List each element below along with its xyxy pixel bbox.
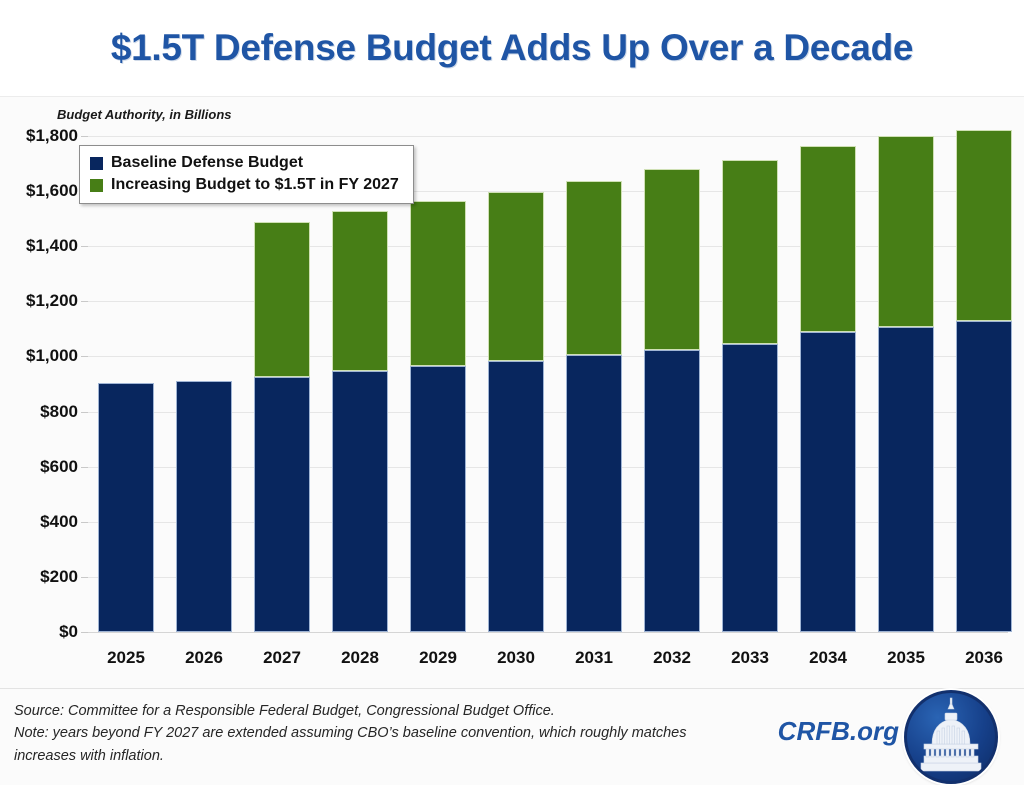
y-tick-mark xyxy=(81,301,88,302)
bar-column[interactable] xyxy=(956,136,1012,632)
bar-column[interactable] xyxy=(566,136,622,632)
bar-segment-increase[interactable] xyxy=(488,192,544,361)
bar-segment-increase[interactable] xyxy=(332,211,388,371)
y-axis-tick-label: $1,200 xyxy=(0,291,78,311)
legend-item[interactable]: Increasing Budget to $1.5T in FY 2027 xyxy=(90,174,399,196)
footnotes: Source: Committee for a Responsible Fede… xyxy=(14,700,744,767)
y-tick-mark xyxy=(81,467,88,468)
source-note: Source: Committee for a Responsible Fede… xyxy=(14,700,744,722)
bar-segment-baseline[interactable] xyxy=(410,366,466,632)
y-axis-tick-label: $1,000 xyxy=(0,346,78,366)
plot-area: $0$200$400$600$800$1,000$1,200$1,400$1,6… xyxy=(88,136,1008,632)
gridline xyxy=(88,632,1008,633)
bar-segment-baseline[interactable] xyxy=(566,355,622,632)
x-axis-tick-label: 2033 xyxy=(722,648,778,668)
bar-column[interactable] xyxy=(410,136,466,632)
bar-segment-increase[interactable] xyxy=(878,136,934,327)
bar-segment-baseline[interactable] xyxy=(98,383,154,632)
bar-segment-baseline[interactable] xyxy=(488,361,544,632)
x-axis-tick-label: 2036 xyxy=(956,648,1012,668)
brand-wordmark: CRFB.org xyxy=(778,716,899,747)
bar-segment-baseline[interactable] xyxy=(722,344,778,632)
bar-segment-baseline[interactable] xyxy=(254,377,310,632)
methodology-note: Note: years beyond FY 2027 are extended … xyxy=(14,722,744,767)
bar-segment-increase[interactable] xyxy=(566,181,622,355)
y-tick-mark xyxy=(81,246,88,247)
legend-swatch-increase xyxy=(90,179,103,192)
legend-label-increase: Increasing Budget to $1.5T in FY 2027 xyxy=(111,176,399,194)
legend-swatch-baseline xyxy=(90,157,103,170)
bar-column[interactable] xyxy=(722,136,778,632)
x-axis-tick-label: 2030 xyxy=(488,648,544,668)
bar-segment-baseline[interactable] xyxy=(332,371,388,632)
bar-segment-baseline[interactable] xyxy=(176,381,232,632)
bar-segment-increase[interactable] xyxy=(722,160,778,344)
y-tick-mark xyxy=(81,522,88,523)
x-axis-tick-label: 2031 xyxy=(566,648,622,668)
y-tick-mark xyxy=(81,632,88,633)
bar-column[interactable] xyxy=(176,136,232,632)
bar-segment-increase[interactable] xyxy=(800,146,856,331)
title-band: $1.5T Defense Budget Adds Up Over a Deca… xyxy=(0,0,1024,97)
y-tick-mark xyxy=(81,356,88,357)
y-axis-tick-label: $600 xyxy=(0,457,78,477)
legend-label-baseline: Baseline Defense Budget xyxy=(111,154,303,172)
x-axis-tick-label: 2035 xyxy=(878,648,934,668)
bar-column[interactable] xyxy=(332,136,388,632)
bar-segment-increase[interactable] xyxy=(644,169,700,350)
footer-divider xyxy=(0,688,1024,689)
capitol-dome-icon xyxy=(904,690,998,784)
chart-slide: $1.5T Defense Budget Adds Up Over a Deca… xyxy=(0,0,1024,785)
bar-segment-baseline[interactable] xyxy=(800,332,856,632)
x-axis-tick-label: 2034 xyxy=(800,648,856,668)
chart-legend: Baseline Defense Budget Increasing Budge… xyxy=(79,145,414,204)
x-axis-tick-label: 2028 xyxy=(332,648,388,668)
bar-segment-increase[interactable] xyxy=(410,201,466,366)
bar-column[interactable] xyxy=(98,136,154,632)
bar-column[interactable] xyxy=(878,136,934,632)
y-axis-tick-label: $800 xyxy=(0,402,78,422)
y-axis-tick-label: $400 xyxy=(0,512,78,532)
y-axis-tick-label: $1,600 xyxy=(0,181,78,201)
y-axis-tick-label: $0 xyxy=(0,622,78,642)
y-axis-tick-label: $1,800 xyxy=(0,126,78,146)
x-axis-tick-label: 2025 xyxy=(98,648,154,668)
bar-segment-increase[interactable] xyxy=(254,222,310,377)
bar-segment-baseline[interactable] xyxy=(644,350,700,632)
axis-caption: Budget Authority, in Billions xyxy=(57,107,232,122)
bar-segment-baseline[interactable] xyxy=(878,327,934,632)
page-title: $1.5T Defense Budget Adds Up Over a Deca… xyxy=(0,27,1024,69)
x-axis-tick-label: 2029 xyxy=(410,648,466,668)
bar-segment-increase[interactable] xyxy=(956,130,1012,321)
y-tick-mark xyxy=(81,577,88,578)
legend-item[interactable]: Baseline Defense Budget xyxy=(90,152,399,174)
bar-column[interactable] xyxy=(800,136,856,632)
y-axis-tick-label: $1,400 xyxy=(0,236,78,256)
brand-lockup[interactable]: CRFB.org xyxy=(766,690,1006,778)
x-axis-tick-label: 2027 xyxy=(254,648,310,668)
bar-column[interactable] xyxy=(644,136,700,632)
bar-segment-baseline[interactable] xyxy=(956,321,1012,632)
y-tick-mark xyxy=(81,136,88,137)
y-axis-tick-label: $200 xyxy=(0,567,78,587)
x-axis-tick-label: 2026 xyxy=(176,648,232,668)
bar-column[interactable] xyxy=(254,136,310,632)
x-axis-tick-label: 2032 xyxy=(644,648,700,668)
y-tick-mark xyxy=(81,412,88,413)
bar-column[interactable] xyxy=(488,136,544,632)
